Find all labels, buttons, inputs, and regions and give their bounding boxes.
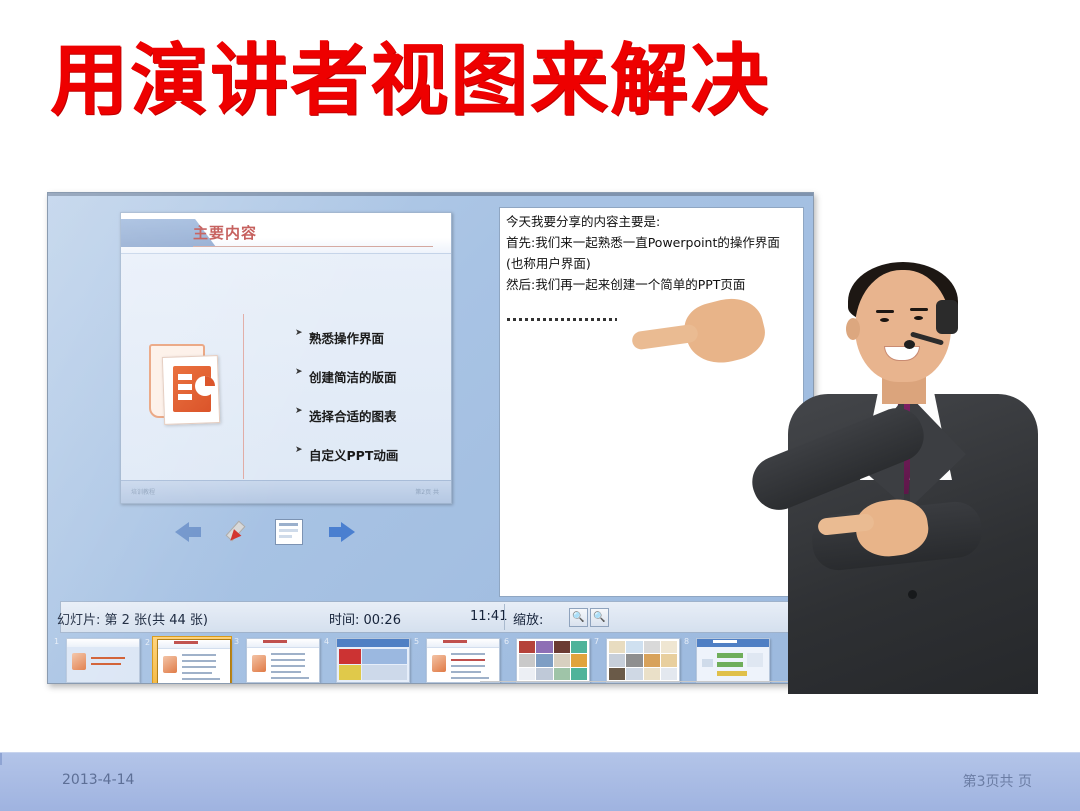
thumbnail-number: 2: [145, 638, 150, 647]
slide-title-underline: [193, 246, 433, 247]
thumbnail-3[interactable]: 3: [242, 636, 320, 683]
notes-line: 首先:我们来一起熟悉一直Powerpoint的操作界面: [506, 233, 801, 254]
list-item: 选择合适的图表: [295, 406, 443, 425]
slide-footer-left: 培训教程: [131, 487, 155, 496]
next-slide-button[interactable]: [327, 519, 355, 545]
slide-body: 熟悉操作界面 创建简洁的版面 选择合适的图表 自定义PPT动画 常用的快捷键与小…: [121, 254, 451, 481]
thumbnail-number: 5: [414, 637, 419, 646]
footer-tick: [0, 753, 2, 765]
thumbnail-6[interactable]: 6: [512, 636, 590, 683]
thumbnail-strip[interactable]: 1 2 3 4 5: [48, 636, 813, 683]
slide-title-text: 主要内容: [193, 222, 257, 243]
notes-dotted-line: [507, 318, 617, 321]
thumbnail-number: 3: [234, 637, 239, 646]
thumbnail-7[interactable]: 7: [602, 636, 680, 683]
previous-slide-button[interactable]: [175, 519, 203, 545]
thumbnail-8[interactable]: 8: [692, 636, 770, 683]
footer-page-number: 第3页共 页: [963, 771, 1032, 791]
presenter-view-screenshot: 主要内容 熟悉操作界面 创建简洁的版面 选择合适的图表 自定义PPT动画: [47, 192, 814, 684]
headset-icon: [936, 300, 958, 334]
menu-icon: [275, 519, 303, 545]
slide-header: 主要内容: [121, 213, 451, 254]
pen-icon: [227, 519, 253, 545]
powerpoint-icon: [149, 344, 221, 426]
slide-divider-line: [243, 314, 244, 479]
notes-line: 然后:我们再一起来创建一个简单的PPT页面: [506, 275, 801, 296]
slideshow-nav-bar: [175, 517, 365, 551]
current-slide-preview[interactable]: 主要内容 熟悉操作界面 创建简洁的版面 选择合适的图表 自定义PPT动画: [120, 212, 452, 504]
footer-date: 2013-4-14: [62, 772, 134, 788]
thumbnail-1[interactable]: 1: [62, 636, 140, 683]
presenter-photo: [760, 262, 1080, 692]
speaker-notes-pane[interactable]: 今天我要分享的内容主要是: 首先:我们来一起熟悉一直Powerpoint的操作界…: [499, 207, 804, 597]
thumbnail-2[interactable]: 2: [152, 636, 232, 684]
page-title: 用演讲者视图来解决: [50, 38, 770, 124]
frame-top-border: [48, 193, 813, 196]
thumbnail-number: 6: [504, 637, 509, 646]
slideshow-menu-button[interactable]: [275, 519, 303, 545]
slide-bullet-list: 熟悉操作界面 创建简洁的版面 选择合适的图表 自定义PPT动画 常用的快捷键与小…: [255, 328, 443, 504]
list-item: 熟悉操作界面: [295, 328, 443, 347]
zoom-in-icon[interactable]: 🔍: [569, 608, 588, 627]
notes-line: 今天我要分享的内容主要是:: [506, 212, 801, 233]
pen-tool-button[interactable]: [227, 519, 253, 545]
clock: 11:41: [470, 609, 507, 624]
elapsed-time: 时间: 00:26: [329, 609, 401, 628]
zoom-out-icon[interactable]: 🔍: [590, 608, 609, 627]
slide-footer-right: 第2页 共: [415, 487, 439, 496]
presenter-status-bar: 幻灯片: 第 2 张(共 44 张) 时间: 00:26 11:41 缩放: 🔍…: [60, 601, 804, 633]
slide-footer: 培训教程 第2页 共: [121, 480, 451, 503]
thumbnail-number: 4: [324, 637, 329, 646]
zoom-label: 缩放:: [513, 609, 543, 628]
thumbnail-number: 1: [54, 637, 59, 646]
status-divider: [504, 604, 505, 630]
list-item: 自定义PPT动画: [295, 445, 443, 464]
arrow-right-icon: [327, 519, 355, 545]
arrow-left-icon: [175, 519, 203, 545]
slide-footer-bar: 2013-4-14 第3页共 页: [0, 752, 1080, 811]
slide-counter: 幻灯片: 第 2 张(共 44 张): [57, 609, 208, 628]
thumbnail-5[interactable]: 5: [422, 636, 500, 683]
thumbnail-number: 8: [684, 637, 689, 646]
notes-line: (也称用户界面): [506, 254, 801, 275]
list-item: 创建简洁的版面: [295, 367, 443, 386]
thumbnail-4[interactable]: 4: [332, 636, 410, 683]
thumbnail-number: 7: [594, 637, 599, 646]
